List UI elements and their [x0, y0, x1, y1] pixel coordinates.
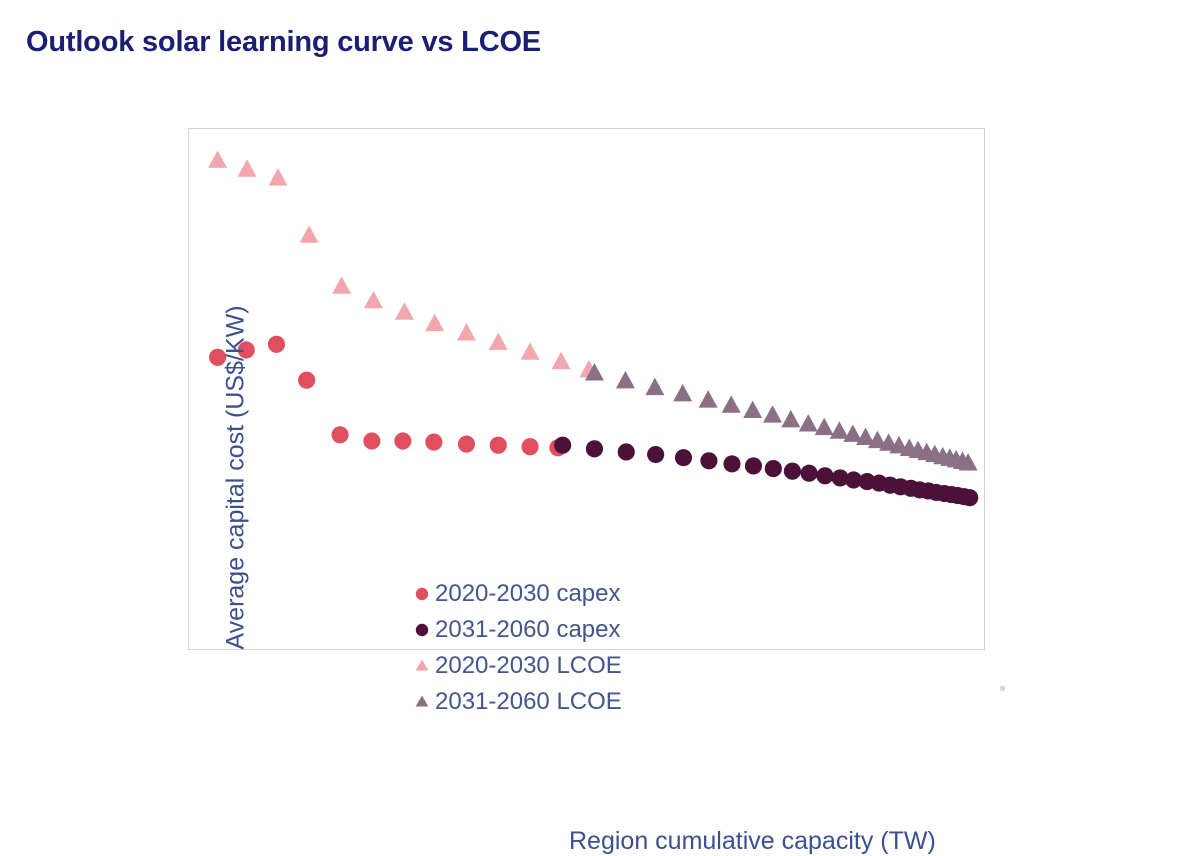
data-point [489, 332, 508, 349]
data-point [394, 432, 411, 449]
data-point [781, 410, 800, 427]
data-point [269, 168, 288, 185]
data-point [618, 443, 635, 460]
legend-item-label: 2020-2030 capex [435, 580, 620, 608]
data-point [745, 457, 762, 474]
data-point [815, 418, 834, 435]
triangle-marker-icon [411, 691, 433, 713]
stray-artifact-dot [1000, 686, 1005, 691]
data-point [700, 452, 717, 469]
circle-marker-icon [411, 583, 433, 605]
series-2020-2030-capex [209, 336, 566, 457]
legend-item-label: 2031-2060 capex [435, 616, 620, 644]
scatter-plot-canvas [189, 129, 984, 649]
y-axis-left-label: Average capital cost (US$/KW) [222, 218, 251, 738]
x-axis-label: Region cumulative capacity (TW) [569, 827, 936, 856]
data-point [298, 372, 315, 389]
data-point [490, 437, 507, 454]
data-point [743, 401, 762, 418]
data-point [673, 384, 692, 401]
chart-legend: 2020-2030 capex2031-2060 capex2020-2030 … [411, 581, 622, 714]
circle-marker-icon [411, 619, 433, 641]
data-point [616, 371, 635, 388]
data-point [208, 150, 227, 167]
data-point [830, 421, 849, 438]
data-point [552, 352, 571, 369]
data-point [961, 489, 978, 506]
page-title: Outlook solar learning curve vs LCOE [26, 26, 541, 59]
legend-item-lcoe-2020-2030[interactable]: 2020-2030 LCOE [411, 653, 622, 678]
series-2020-2030-lcoe [208, 150, 598, 377]
data-point [765, 460, 782, 477]
data-point [268, 336, 285, 353]
data-point [699, 390, 718, 407]
data-point [521, 342, 540, 359]
data-point [238, 159, 257, 176]
data-point [647, 446, 664, 463]
data-point [425, 433, 442, 450]
legend-item-capex-2031-2060[interactable]: 2031-2060 capex [411, 617, 622, 642]
data-point [395, 302, 414, 319]
data-point [816, 467, 833, 484]
data-point [300, 225, 319, 242]
series-2031-2060-lcoe [585, 363, 978, 470]
data-point [763, 405, 782, 422]
legend-item-label: 2020-2030 LCOE [435, 652, 622, 680]
data-point [364, 291, 383, 308]
data-point [554, 437, 571, 454]
data-point [799, 414, 818, 431]
data-point [332, 276, 351, 293]
data-point [331, 426, 348, 443]
data-point [801, 465, 818, 482]
data-point [723, 455, 740, 472]
plot-area: Average capital cost (US$/KW) Average LC… [188, 128, 985, 650]
legend-item-label: 2031-2060 LCOE [435, 688, 622, 716]
data-point [586, 440, 603, 457]
legend-item-lcoe-2031-2060[interactable]: 2031-2060 LCOE [411, 689, 622, 714]
data-point [521, 438, 538, 455]
data-point [457, 323, 476, 340]
data-point [645, 378, 664, 395]
triangle-marker-icon [411, 655, 433, 677]
data-point [363, 432, 380, 449]
legend-item-capex-2020-2030[interactable]: 2020-2030 capex [411, 581, 622, 606]
data-point [458, 436, 475, 453]
data-point [675, 449, 692, 466]
data-point [722, 395, 741, 412]
data-point [784, 463, 801, 480]
data-point [425, 314, 444, 331]
